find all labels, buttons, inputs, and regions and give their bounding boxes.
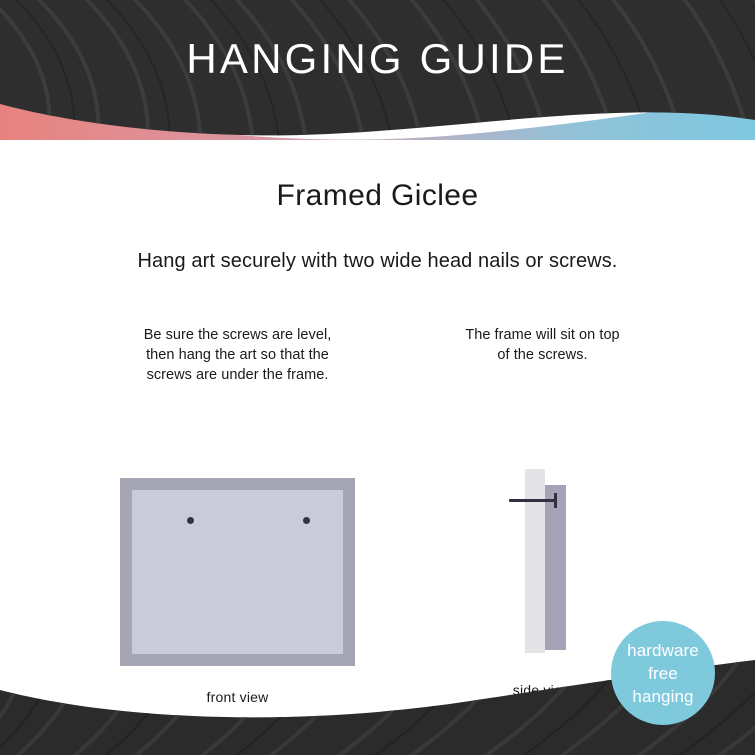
hanging-guide-page: HANGING GUIDE Framed Giclee Hang art sec… <box>0 0 755 755</box>
product-title: Framed Giclee <box>0 176 755 216</box>
side-view-column: The frame will sit on top of the screws.… <box>440 325 645 605</box>
wall-bar <box>525 469 545 653</box>
badge-line-1: hardware <box>627 639 699 662</box>
front-view-illustration: front view <box>105 398 370 633</box>
side-view-caption: The frame will sit on top of the screws. <box>440 325 645 365</box>
page-title: HANGING GUIDE <box>0 33 755 85</box>
frame-profile-bar <box>545 485 566 650</box>
badge-line-3: hanging <box>632 685 693 708</box>
front-view-column: Be sure the screws are level, then hang … <box>105 325 370 633</box>
side-caption-line-1: The frame will sit on top <box>440 325 645 345</box>
frame-inner-artwork <box>132 490 343 654</box>
front-caption-line-3: screws are under the frame. <box>105 365 370 385</box>
front-caption-line-1: Be sure the screws are level, <box>105 325 370 345</box>
nail-head-icon <box>554 493 557 508</box>
screw-dot-right-icon <box>303 517 310 524</box>
front-caption-line-2: then hang the art so that the <box>105 345 370 365</box>
side-view-illustration: side view <box>440 387 645 605</box>
front-view-caption: Be sure the screws are level, then hang … <box>105 325 370 385</box>
lead-instruction-text: Hang art securely with two wide head nai… <box>0 247 755 275</box>
header-banner: HANGING GUIDE <box>0 0 755 140</box>
screw-dot-left-icon <box>187 517 194 524</box>
nail-shaft-icon <box>509 499 557 502</box>
side-caption-line-2: of the screws. <box>440 345 645 365</box>
badge-line-2: free <box>648 662 678 685</box>
hardware-free-hanging-badge: hardware free hanging <box>611 621 715 725</box>
